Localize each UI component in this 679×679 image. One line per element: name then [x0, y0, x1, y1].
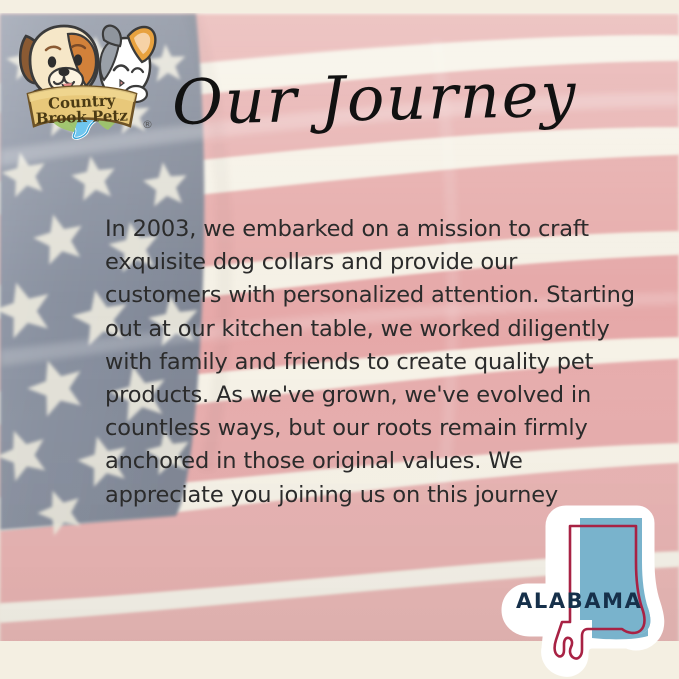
body-line: exquisite dog collars and provide our [105, 246, 671, 279]
body-line: anchored in those original values. We [105, 445, 671, 478]
body-line: In 2003, we embarked on a mission to cra… [105, 213, 671, 246]
alabama-label-text: ALABAMA [516, 589, 643, 613]
body-line: customers with personalized attention. S… [105, 279, 671, 312]
logo-graphic: Country Brook Petz ® [8, 14, 158, 142]
page-title: Our Journey [171, 46, 593, 151]
body-line: countless ways, but our roots remain fir… [105, 412, 671, 445]
body-line: products. As we've grown, we've evolved … [105, 379, 671, 412]
registered-trademark-icon: ® [142, 118, 153, 131]
alabama-badge-graphic: ALABAMA [496, 500, 679, 679]
alabama-state-badge: ALABAMA [496, 500, 679, 679]
body-paragraph: In 2003, we embarked on a mission to cra… [105, 213, 671, 512]
body-line: out at our kitchen table, we worked dili… [105, 313, 671, 346]
top-cream-band [0, 0, 679, 13]
body-line: with family and friends to create qualit… [105, 346, 671, 379]
logo-text-line2: Brook Petz [36, 106, 129, 127]
poster-canvas: Country Brook Petz ® Our Journey In 2003… [0, 0, 679, 679]
country-brook-petz-logo[interactable]: Country Brook Petz ® [8, 14, 158, 142]
